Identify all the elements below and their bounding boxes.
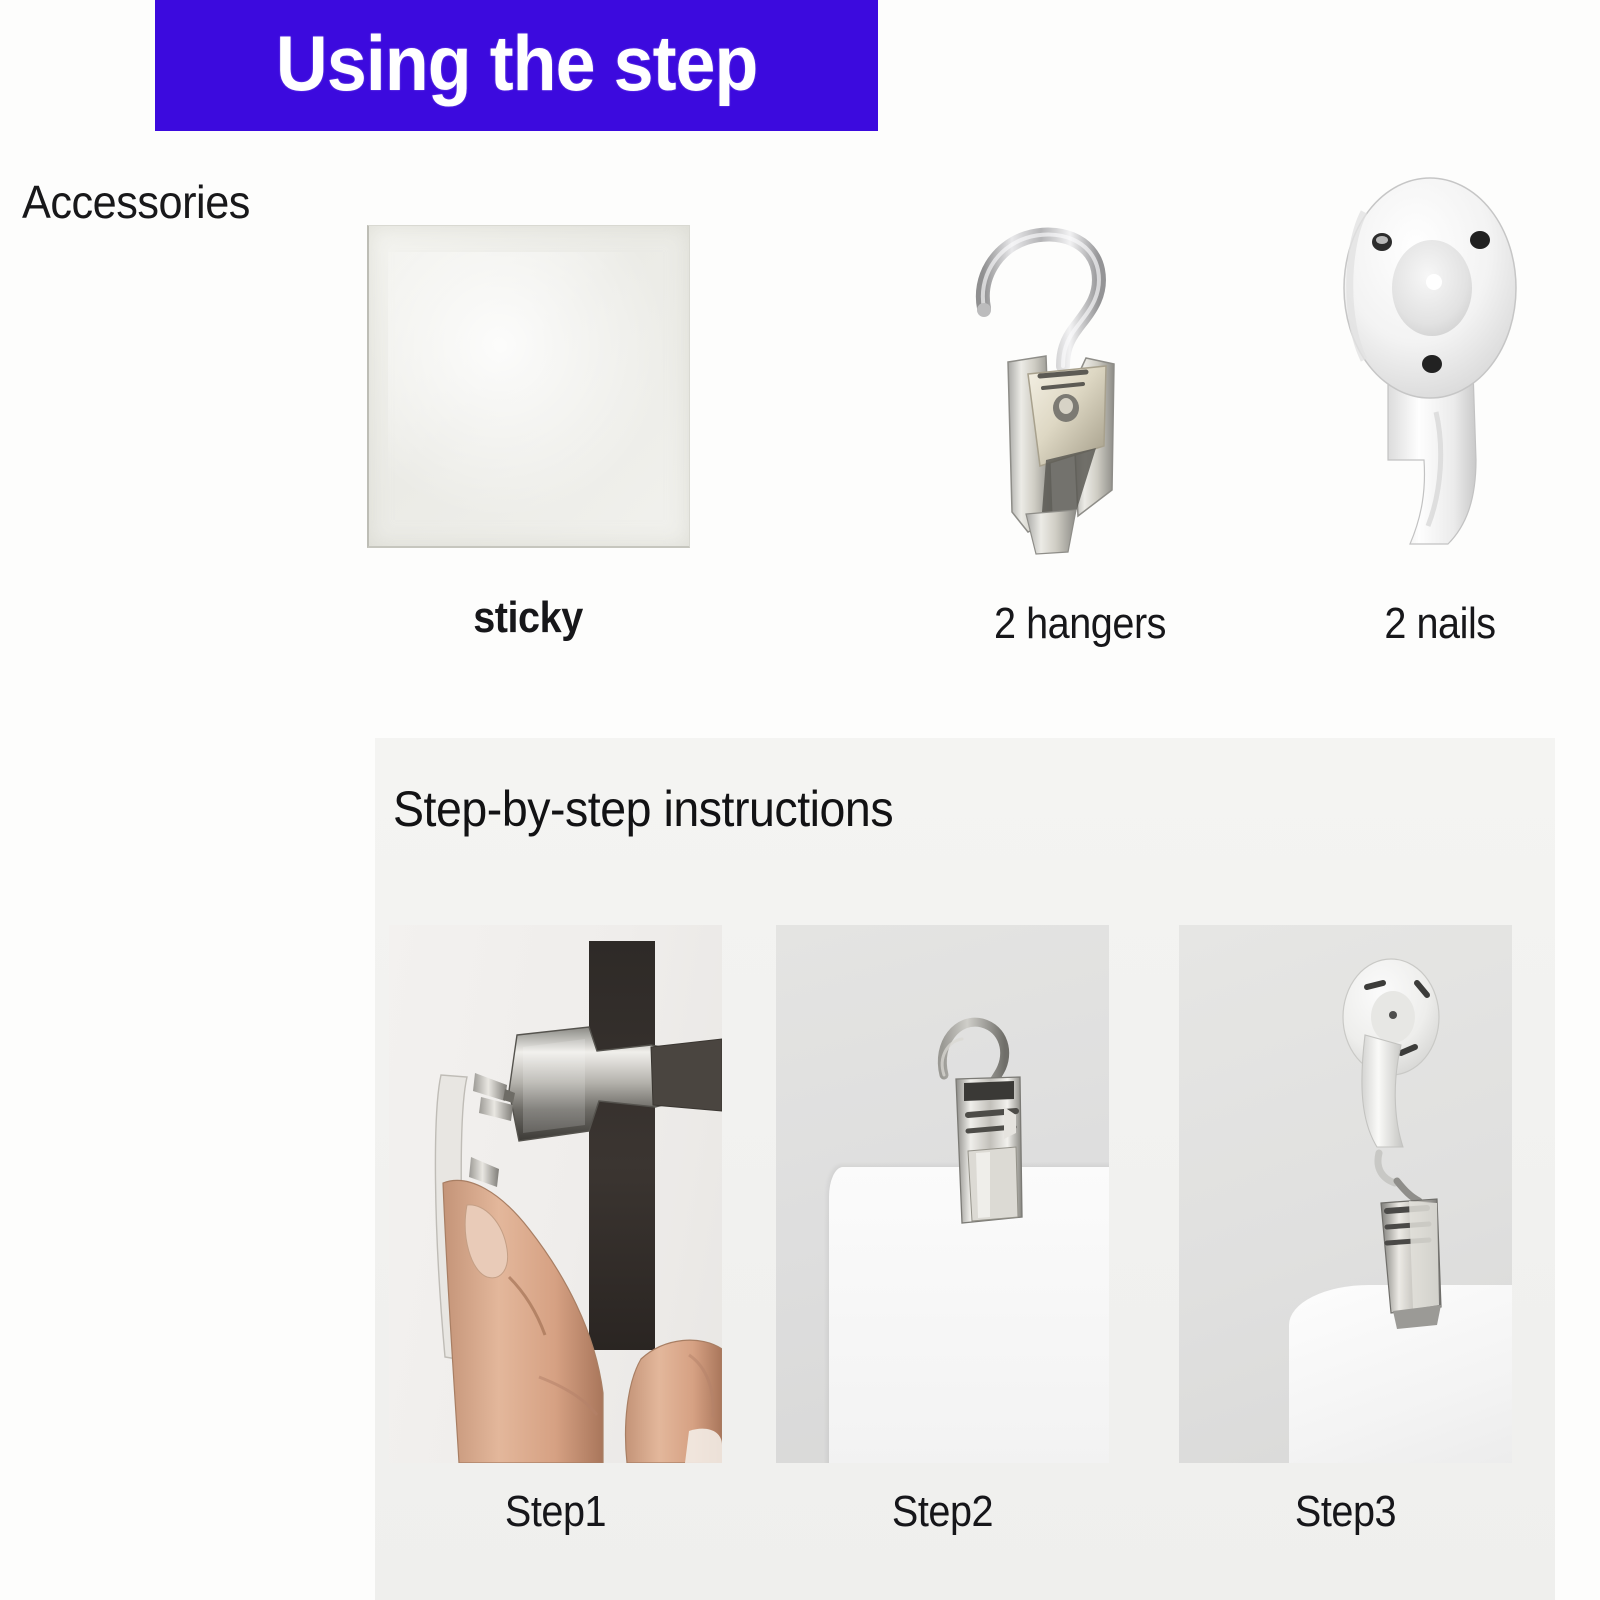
accessory-caption: sticky [366, 596, 690, 640]
clip-hanger-icon [900, 160, 1260, 580]
header-banner: Using the step [155, 0, 878, 131]
accessory-item-sticky: sticky [348, 160, 708, 640]
accessories-section-label: Accessories [22, 175, 250, 229]
step-cell: Step3 [1179, 925, 1512, 1534]
step-cell: Step2 [776, 925, 1109, 1534]
step-caption: Step2 [793, 1490, 1093, 1534]
wall-hook-nail-icon [1260, 160, 1600, 580]
adhesive-pad-icon [367, 225, 690, 548]
steps-row: Step1 [389, 925, 1539, 1525]
accessories-row: sticky [330, 160, 1530, 670]
step-cell: Step1 [389, 925, 722, 1534]
step-caption: Step3 [1196, 1490, 1496, 1534]
clip-hanger-gripping-sheet-photo [776, 925, 1109, 1463]
accessory-item-nails: 2 nails [1260, 160, 1600, 646]
instructions-panel: Step-by-step instructions [375, 738, 1555, 1600]
accessory-caption: 2 hangers [918, 602, 1242, 646]
accessory-item-hangers: 2 hangers [900, 160, 1260, 646]
step-caption: Step1 [406, 1490, 706, 1534]
page-title: Using the step [276, 24, 758, 102]
accessory-caption: 2 nails [1278, 602, 1600, 646]
hammering-nail-into-wall-photo [389, 925, 722, 1463]
hook-mounted-holding-fabric-photo [1179, 925, 1512, 1463]
instructions-title: Step-by-step instructions [393, 780, 893, 838]
